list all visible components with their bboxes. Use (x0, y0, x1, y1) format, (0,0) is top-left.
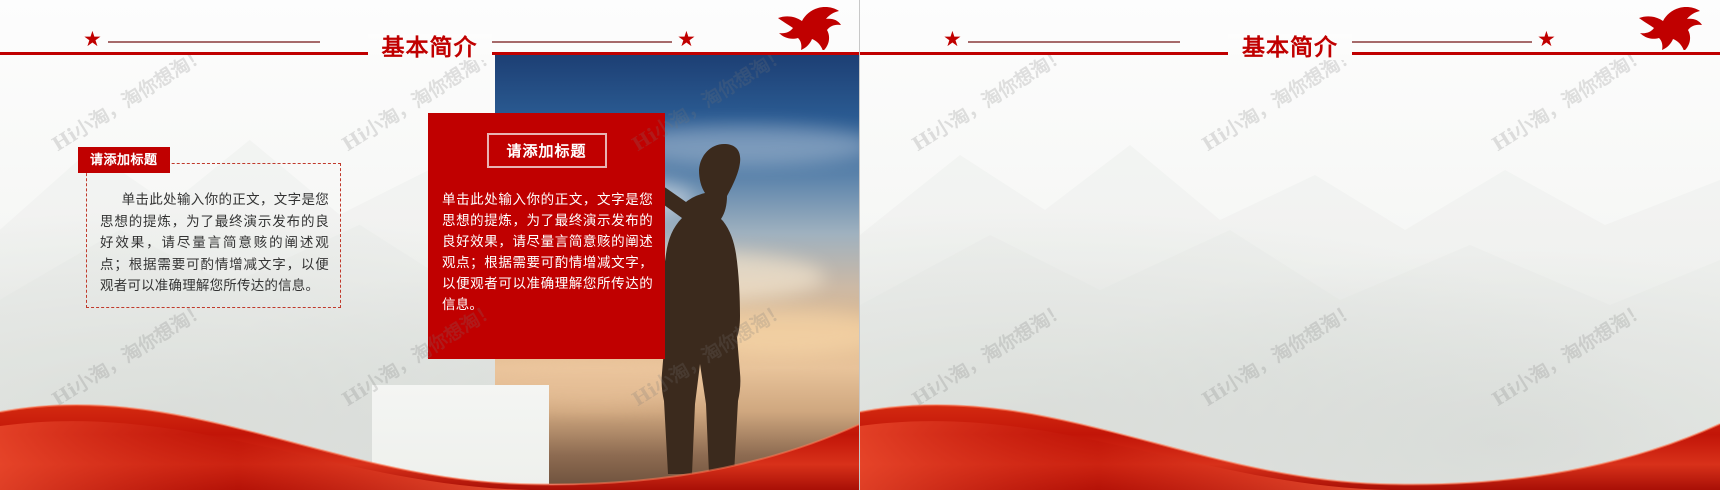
slide-left: ★ ★ 基本简介 请添加标题 单击此处输入你的正文，文字是您思想的提炼，为了最终… (0, 0, 860, 490)
page-title-text: 基本简介 (368, 34, 492, 60)
page-title: 基本简介 (860, 33, 1720, 61)
slide-right: ★ ★ 基本简介 单击此处输入你的正文，文字是您思想的提炼，为了最终演示发布的良… (860, 0, 1720, 490)
red-card-title: 请添加标题 (486, 133, 606, 168)
text-box-body: 单击此处输入你的正文，文字是您思想的提炼，为了最终演示发布的良好效果，请尽量言简… (100, 189, 329, 297)
dove-icon (775, 2, 841, 50)
slide-deck: ★ ★ 基本简介 请添加标题 单击此处输入你的正文，文字是您思想的提炼，为了最终… (0, 0, 1720, 490)
feature-red-card: 请添加标题 单击此处输入你的正文，文字是您思想的提炼，为了最终演示发布的良好效果… (428, 113, 665, 359)
bottom-red-wave (0, 360, 860, 490)
red-card-body: 单击此处输入你的正文，文字是您思想的提炼，为了最终演示发布的良好效果，请尽量言简… (442, 189, 653, 315)
dove-icon (1636, 2, 1702, 50)
text-box-title: 请添加标题 (78, 147, 170, 173)
page-title-text: 基本简介 (1228, 34, 1352, 60)
slide-header: ★ ★ 基本简介 (0, 0, 859, 60)
text-box-left: 请添加标题 单击此处输入你的正文，文字是您思想的提炼，为了最终演示发布的良好效果… (86, 163, 341, 308)
page-title: 基本简介 (0, 33, 859, 61)
slide-header: ★ ★ 基本简介 (860, 0, 1720, 60)
bottom-red-wave (860, 360, 1720, 490)
